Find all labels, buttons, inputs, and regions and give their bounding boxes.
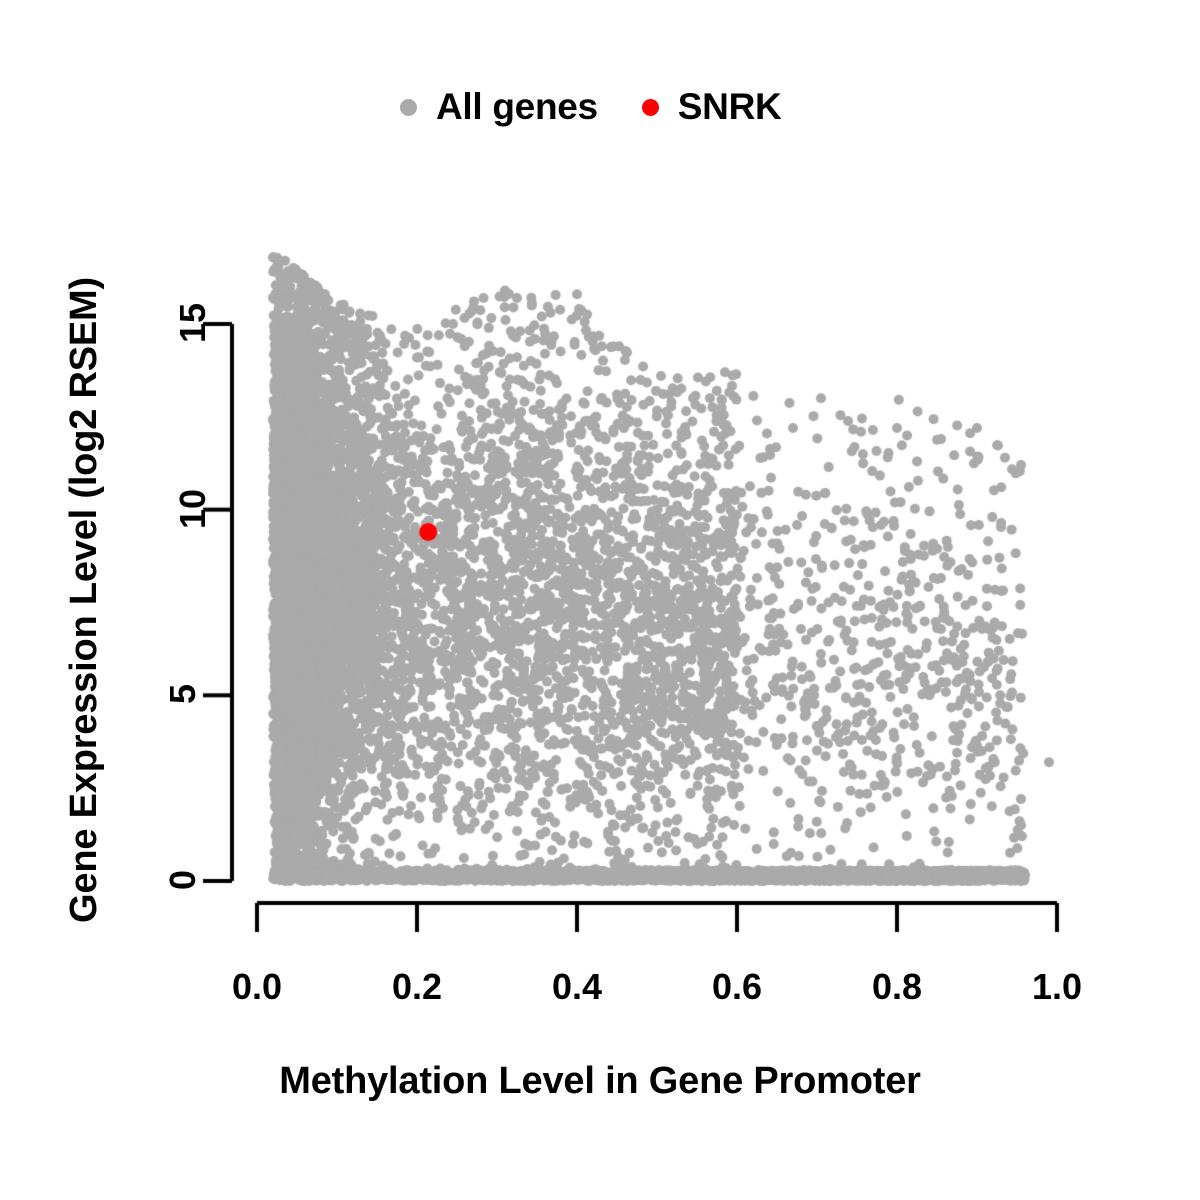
x-tick-label: 0.0: [232, 966, 282, 1008]
y-tick-label: 5: [173, 673, 193, 715]
x-tick-label: 1.0: [1032, 966, 1082, 1008]
y-tick-label: 15: [173, 302, 213, 344]
x-tick-label: 0.4: [552, 966, 602, 1008]
scatter-plot-figure: All genes SNRK Methylation Level in Gene…: [0, 0, 1200, 1200]
legend-entry-all-genes: All genes: [400, 86, 598, 128]
x-tick-label: 0.2: [392, 966, 442, 1008]
scatter-plot-canvas: [0, 0, 1200, 1200]
x-axis-title: Methylation Level in Gene Promoter: [0, 1060, 1200, 1103]
legend-marker-snrk-icon: [642, 99, 659, 116]
x-tick-label: 0.8: [872, 966, 922, 1008]
legend-label-all-genes: All genes: [436, 86, 598, 128]
y-tick-label: 10: [173, 488, 213, 530]
y-tick-label: 0: [173, 859, 193, 901]
legend-entry-snrk: SNRK: [642, 86, 782, 128]
legend-marker-all-genes-icon: [400, 99, 417, 116]
y-axis-title: Gene Expression Level (log2 RSEM): [56, 0, 112, 1200]
x-tick-label: 0.6: [712, 966, 762, 1008]
legend-label-snrk: SNRK: [678, 86, 782, 128]
legend: All genes SNRK: [400, 78, 781, 136]
